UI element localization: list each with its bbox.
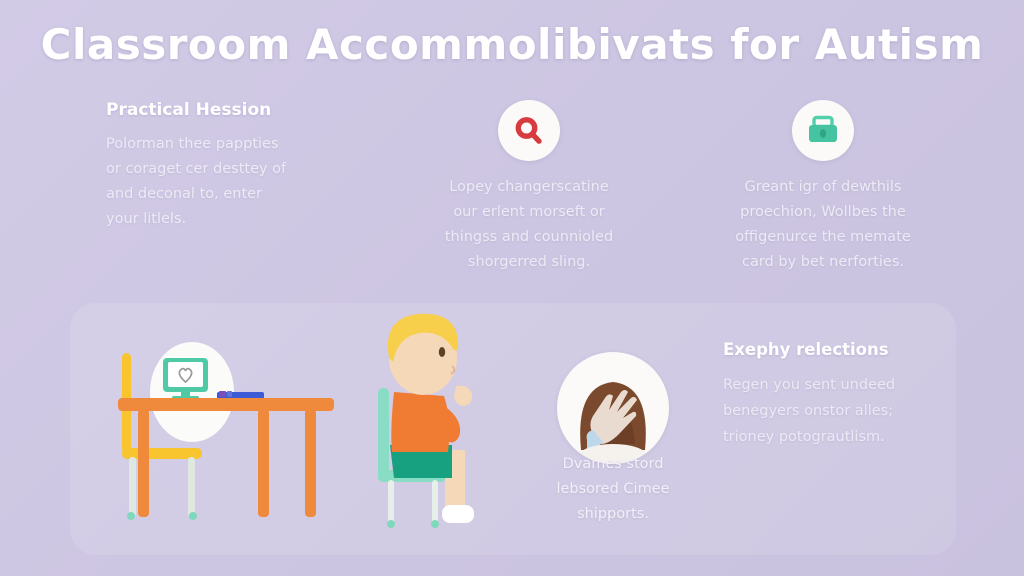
desk-leg bbox=[258, 409, 269, 517]
body-line: proechion, Wollbes the bbox=[735, 200, 911, 225]
chair-foot bbox=[127, 512, 135, 520]
chair-foot bbox=[387, 520, 395, 528]
desk-top bbox=[118, 398, 334, 411]
body-line: and deconal to, enter bbox=[106, 182, 286, 207]
column-heading: Practical Hession bbox=[106, 100, 271, 120]
chair-leg bbox=[388, 480, 394, 525]
book-small bbox=[227, 391, 232, 397]
body-line: Polorman thee pappties bbox=[106, 132, 286, 157]
desk-scene-svg bbox=[100, 330, 350, 530]
body-line: benegyers onstor alles; bbox=[723, 399, 943, 425]
panel-text-block: Exephy relections Regen you sent undeed … bbox=[723, 340, 943, 450]
chair-back bbox=[378, 388, 389, 478]
chair-leg bbox=[188, 457, 195, 517]
panel-heading: Exephy relections bbox=[723, 340, 943, 359]
avatar-wrapper bbox=[557, 352, 669, 464]
panel-body: Regen you sent undeed benegyers onstor a… bbox=[723, 373, 943, 450]
page-title: Classroom Accommolibivats for Autism bbox=[0, 20, 1024, 69]
column-practical: Practical Hession Polorman thee pappties… bbox=[70, 100, 382, 275]
search-icon bbox=[512, 114, 546, 148]
body-line: trioney potograutlism. bbox=[723, 425, 943, 451]
desk-leg bbox=[305, 409, 316, 517]
body-line: Greant igr of dewthils bbox=[735, 175, 911, 200]
lock-icon-badge bbox=[792, 100, 854, 161]
caption-line: Dvames stord bbox=[505, 452, 721, 477]
classroom-desk-illustration bbox=[100, 330, 350, 530]
avatar-svg bbox=[557, 352, 669, 464]
chair-leg bbox=[129, 457, 136, 517]
book-purple bbox=[219, 391, 226, 397]
child-eye bbox=[439, 347, 445, 357]
chair-foot bbox=[431, 520, 439, 528]
seated-child-illustration bbox=[360, 300, 505, 532]
body-line: thingss and counnioled bbox=[445, 225, 613, 250]
caption-line: lebsored Cimee bbox=[505, 477, 721, 502]
monitor-screen bbox=[168, 362, 203, 387]
search-icon-badge bbox=[498, 100, 560, 161]
chair-leg bbox=[432, 480, 438, 525]
body-line: shorgerred sling. bbox=[445, 250, 613, 275]
top-columns-row: Practical Hession Polorman thee pappties… bbox=[70, 100, 970, 275]
column-body: Polorman thee pappties or coraget cer de… bbox=[106, 132, 286, 232]
body-line: Regen you sent undeed bbox=[723, 373, 943, 399]
child-scene-svg bbox=[360, 300, 505, 532]
child-shoe bbox=[442, 505, 474, 523]
caption-line: shipports. bbox=[505, 502, 721, 527]
avatar-caption: Dvames stord lebsored Cimee shipports. bbox=[505, 452, 721, 527]
body-line: our erlent morseft or bbox=[445, 200, 613, 225]
chair-foot bbox=[189, 512, 197, 520]
column-body: Lopey changerscatine our erlent morseft … bbox=[445, 175, 613, 275]
avatar bbox=[557, 352, 669, 464]
child-hand bbox=[454, 386, 472, 406]
column-body: Greant igr of dewthils proechion, Wollbe… bbox=[735, 175, 911, 275]
body-line: offigenurce the memate bbox=[735, 225, 911, 250]
column-search: Lopey changerscatine our erlent morseft … bbox=[382, 100, 676, 275]
lock-icon bbox=[805, 114, 841, 148]
infographic-poster: Classroom Accommolibivats for Autism Pra… bbox=[0, 0, 1024, 576]
column-protection: Greant igr of dewthils proechion, Wollbe… bbox=[676, 100, 970, 275]
body-line: or coraget cer desttey of bbox=[106, 157, 286, 182]
body-line: your litlels. bbox=[106, 207, 286, 232]
desk-leg bbox=[138, 409, 149, 517]
body-line: Lopey changerscatine bbox=[445, 175, 613, 200]
body-line: card by bet nerforties. bbox=[735, 250, 911, 275]
